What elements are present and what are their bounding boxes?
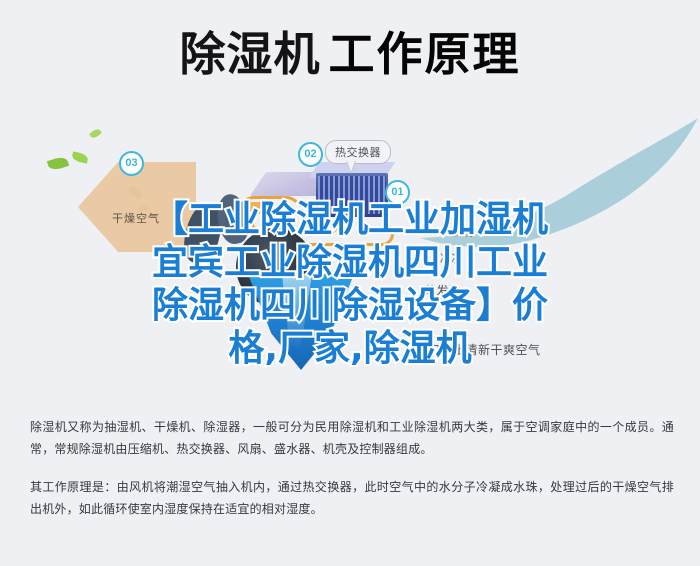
- page-title-main: 除湿机: [180, 26, 321, 82]
- dry-air-arrow: [78, 162, 196, 252]
- step-badge-01: 01: [385, 180, 410, 205]
- step-badge-02: 02: [298, 142, 323, 167]
- blow-out-label: 口吹出清新干爽空气: [428, 341, 541, 358]
- body-paragraph: 除湿机又称为抽湿机、干燥机、除湿器，一般可分为民用除湿机和工业除湿机两大类，属于…: [30, 416, 674, 460]
- leaf-icon: [89, 127, 102, 139]
- body-paragraph: 其工作原理是：由风机将潮湿空气抽入机内，通过热交换器，此时空气中的水分子冷凝成水…: [30, 476, 674, 520]
- callout-tail-icon: [346, 161, 356, 174]
- step-badge-03: 03: [119, 151, 144, 176]
- article-body: 除湿机又称为抽湿机、干燥机、除湿器，一般可分为民用除湿机和工业除湿机两大类，属于…: [30, 416, 674, 520]
- dehumidifier-diagram: 干燥空气 除湿 蒸发 冷凝 蒸发器 口吹出清新干爽空气 03 02 01 热交换…: [0, 110, 700, 406]
- evaporator-label: 蒸发器: [424, 282, 462, 299]
- compressor-block: [246, 202, 266, 214]
- page-title: 除湿机工作原理: [0, 26, 700, 82]
- dry-air-label: 干燥空气: [112, 210, 160, 226]
- heat-exchanger-callout: 热交换器: [325, 140, 391, 164]
- page-title-sub: 工作原理: [329, 26, 521, 82]
- unit-small-label: 除湿: [318, 218, 339, 233]
- leaf-icon: [71, 151, 89, 163]
- unit-small-label-2: 蒸发: [452, 224, 473, 239]
- page-root: 除湿机工作原理 干燥空气 除湿 蒸发 冷凝 蒸发器 口吹出清新干爽空气 03: [0, 0, 700, 566]
- unit-small-label-3: 冷凝: [440, 250, 463, 266]
- leaf-icon: [47, 155, 69, 172]
